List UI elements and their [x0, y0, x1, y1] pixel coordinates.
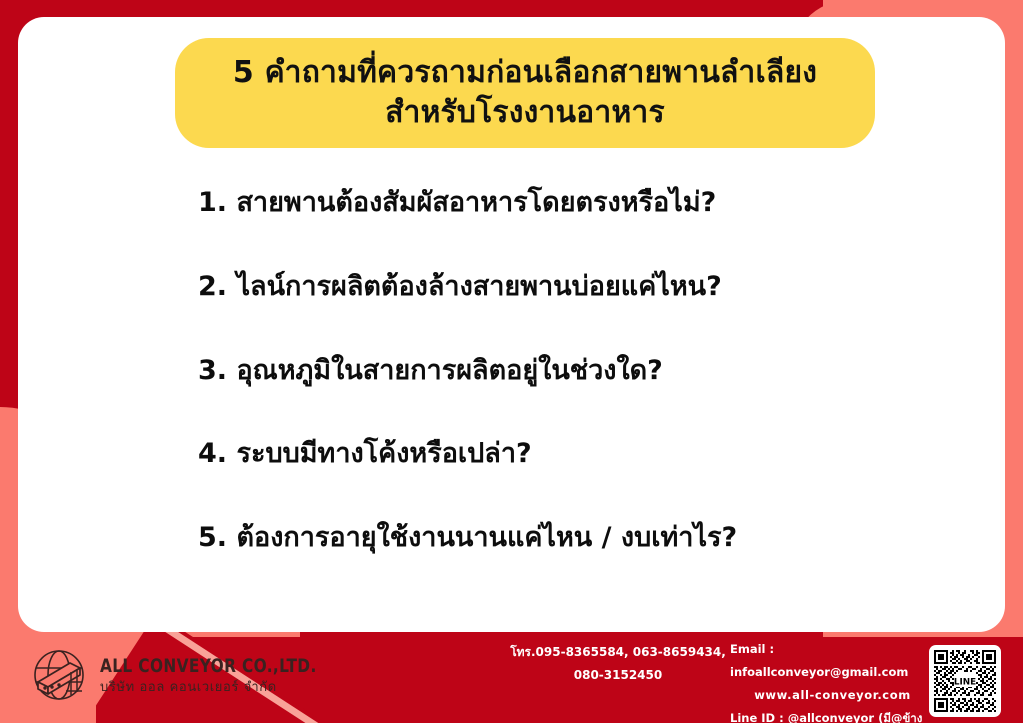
qr-line-label: LINE [954, 678, 976, 688]
title-line-1: 5 คำถามที่ควรถามก่อนเลือกสายพานลำเลียง [233, 53, 817, 93]
phone-line-2: 080-3152450 [508, 664, 728, 687]
question-list: 1. สายพานต้องสัมผัสอาหารโดยตรงหรือไม่? 2… [198, 186, 958, 555]
list-item: 2. ไลน์การผลิตต้องล้างสายพานบ่อยแค่ไหน? [198, 270, 958, 304]
list-item: 4. ระบบมีทางโค้งหรือเปล่า? [198, 437, 958, 471]
list-item: 1. สายพานต้องสัมผัสอาหารโดยตรงหรือไม่? [198, 186, 958, 220]
line-id-text: Line ID : @allconveyor (มี@ข้างหน้า) [730, 707, 935, 723]
contact-details: Email : infoallconveyor@gmail.com www.al… [730, 638, 935, 723]
website-text: www.all-conveyor.com [730, 684, 935, 707]
title-line-2: สำหรับโรงงานอาหาร [233, 93, 817, 133]
brand-text-block: ALL CONVEYOR CO.,LTD. บริษัท ออล คอนเวเย… [100, 657, 341, 694]
line-qr-code-icon[interactable]: LINE [929, 645, 1001, 717]
list-item: 5. ต้องการอายุใช้งานนานแค่ไหน / งบเท่าไร… [198, 521, 958, 555]
email-text: Email : infoallconveyor@gmail.com [730, 638, 935, 684]
globe-conveyor-icon [30, 646, 88, 704]
list-item: 3. อุณหภูมิในสายการผลิตอยู่ในช่วงใด? [198, 354, 958, 388]
brand-block: ALL CONVEYOR CO.,LTD. บริษัท ออล คอนเวเย… [30, 646, 341, 704]
phone-line-1: โทร.095-8365584, 063-8659434, [508, 641, 728, 664]
brand-name: ALL CONVEYOR CO.,LTD. [100, 657, 317, 676]
page-title: 5 คำถามที่ควรถามก่อนเลือกสายพานลำเลียง ส… [209, 53, 841, 132]
title-banner: 5 คำถามที่ควรถามก่อนเลือกสายพานลำเลียง ส… [175, 38, 875, 148]
phone-numbers: โทร.095-8365584, 063-8659434, 080-315245… [508, 641, 728, 687]
poster-root: 5 คำถามที่ควรถามก่อนเลือกสายพานลำเลียง ส… [0, 0, 1023, 723]
brand-name-thai: บริษัท ออล คอนเวเยอร์ จำกัด [100, 681, 341, 694]
footer: ALL CONVEYOR CO.,LTD. บริษัท ออล คอนเวเย… [0, 632, 1023, 723]
